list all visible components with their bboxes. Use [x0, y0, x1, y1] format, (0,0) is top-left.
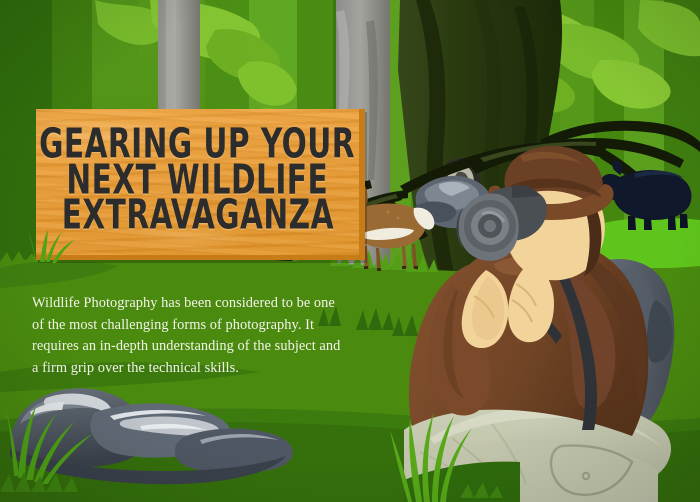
foreground-rocks-layer: [0, 0, 700, 502]
tall-grass-right: [390, 412, 472, 502]
infographic-scene: GEARING UP YOUR NEXT WILDLIFE EXTRAVAGAN…: [0, 0, 700, 502]
